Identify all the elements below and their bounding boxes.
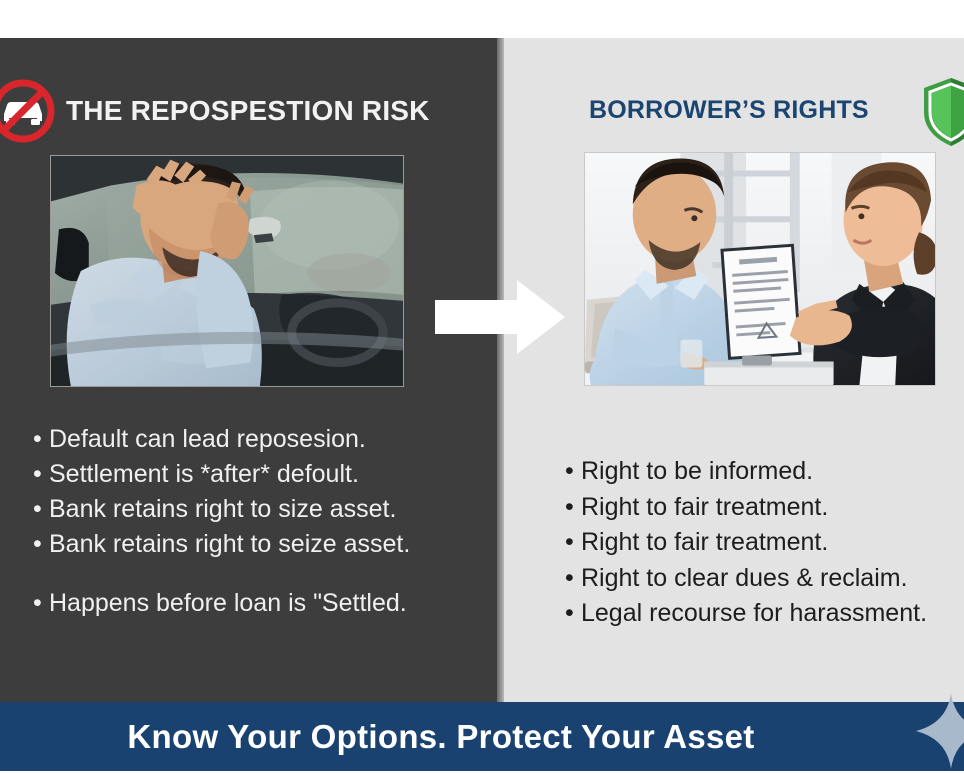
stressed-driver-photo [50,155,404,387]
list-item: •Happens before loan is "Settled. [33,586,410,621]
banner-title: Know Your Options. Protect Your Asset [0,702,964,771]
rights-bullet-list: •Right to be informed. •Right to fair tr… [565,454,927,632]
list-item: •Right to be informed. [565,454,927,490]
bullet-dot: • [565,490,581,526]
bullet-dot: • [565,561,581,597]
bullet-dot: • [33,586,49,621]
list-item: •Bank retains right to size asset. [33,492,410,527]
panel-divider [497,38,504,702]
risk-bullet-list: •Default can lead reposesion. •Settlemen… [33,422,410,621]
bullet-dot: • [565,454,581,490]
bullet-dot: • [33,492,49,527]
bullet-dot: • [33,527,49,562]
no-car-prohibition-icon [0,79,55,143]
sparkle-icon [916,693,964,769]
list-item: •Bank retains right to seize asset. [33,527,410,562]
list-item: •Right to fair treatment. [565,490,927,526]
list-spacer [33,562,410,586]
list-item: •Settlement is *after* defoult. [33,457,410,492]
bullet-dot: • [33,457,49,492]
list-item: •Right to fair treatment. [565,525,927,561]
loan-consultation-photo [584,152,936,386]
right-arrow-icon [433,278,567,356]
list-item: •Default can lead reposesion. [33,422,410,457]
shield-icon [921,76,964,148]
infographic-canvas: THE REPOSPESTION RISK [0,0,964,771]
list-item: •Right to clear dues & reclaim. [565,561,927,597]
list-item: •Legal recourse for harassment. [565,596,927,632]
bullet-dot: • [33,422,49,457]
page-title-right: BORROWER’S RIGHTS [589,96,869,125]
bullet-dot: • [565,525,581,561]
page-title-left: THE REPOSPESTION RISK [66,95,430,127]
bullet-dot: • [565,596,581,632]
bottom-banner: Know Your Options. Protect Your Asset [0,702,964,771]
